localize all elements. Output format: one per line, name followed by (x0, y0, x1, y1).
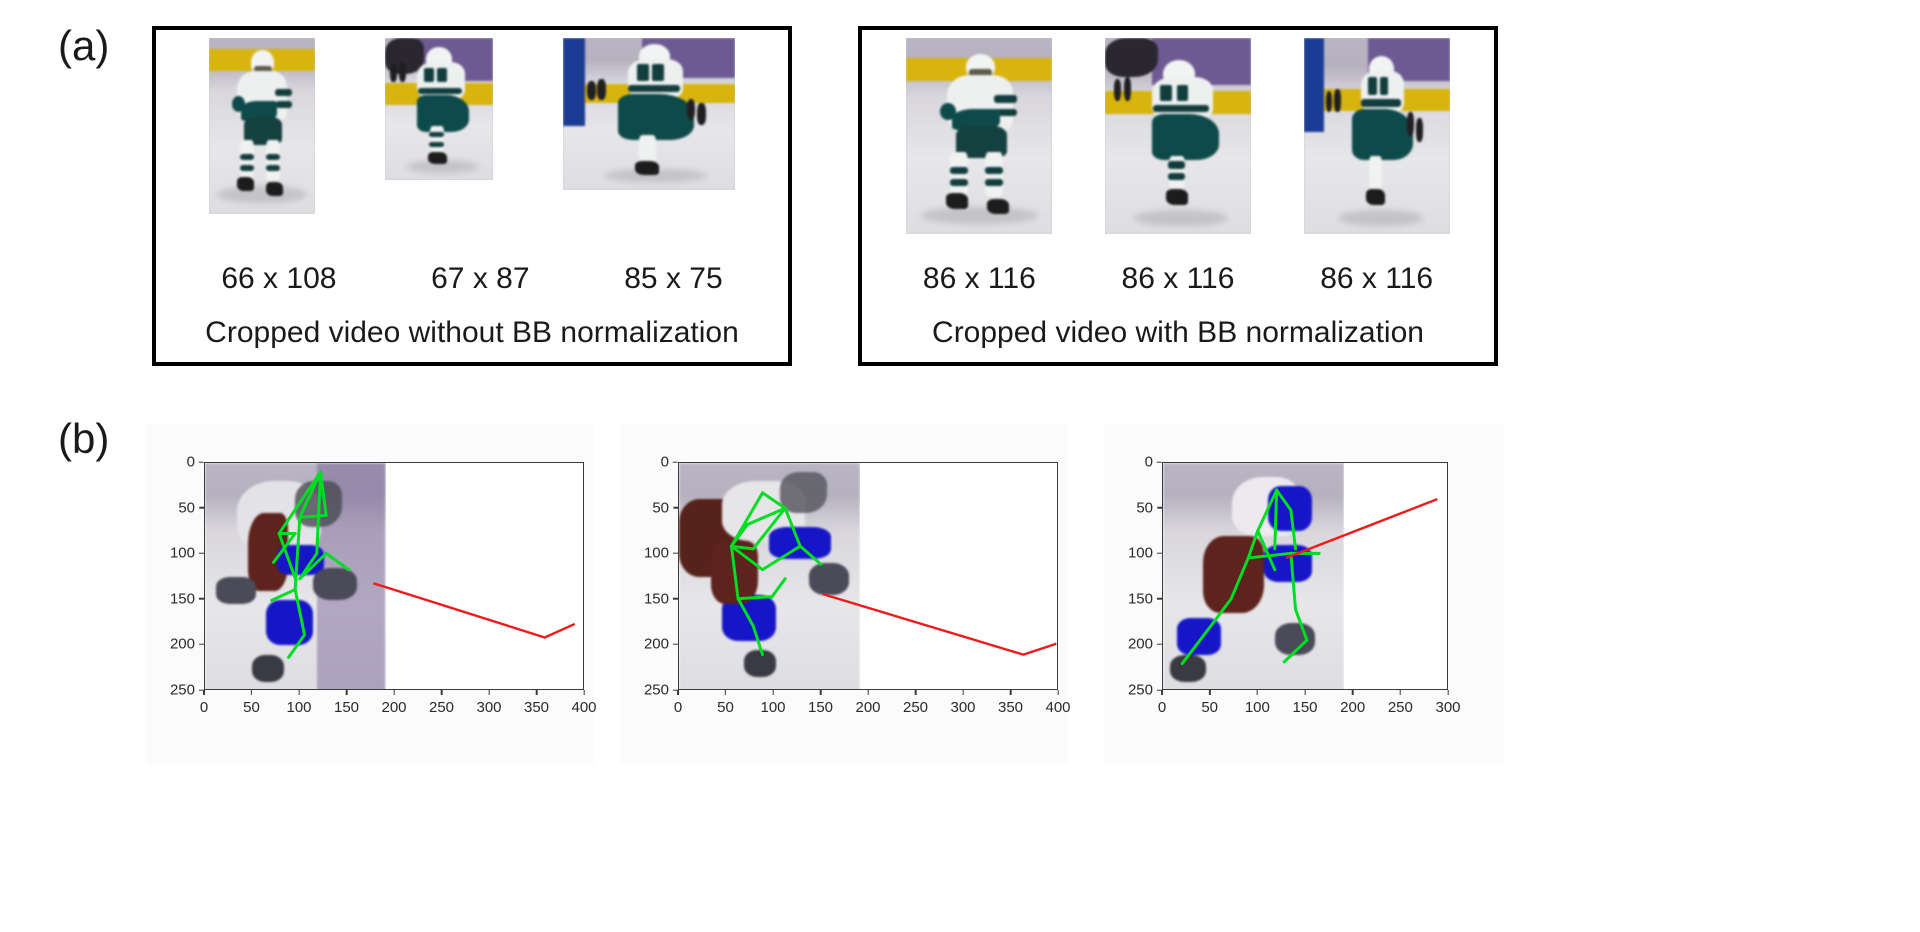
pose-skeleton-segment (763, 493, 786, 508)
y-axis-tick-label: 0 (661, 454, 678, 471)
figure-root: (a) (0, 0, 1920, 932)
trajectory-polyline (373, 583, 575, 637)
y-axis-tick-label: 50 (178, 499, 204, 516)
pose-skeleton-segment (326, 553, 349, 569)
panel-label-a: (a) (58, 22, 109, 70)
pose-skeleton-segment (295, 590, 304, 635)
crop-cell (906, 38, 1052, 234)
crop-group-caption: Cropped video with BB normalization (862, 316, 1494, 350)
crop-group-caption: Cropped video without BB normalization (156, 316, 788, 350)
x-axis-tick-label: 400 (1045, 690, 1070, 716)
pose-plot-frame-2: 050100150200250050100150200250300350400 (620, 424, 1068, 764)
crop-size-label: 86 x 116 (1122, 262, 1235, 296)
pose-skeleton-segment (272, 590, 296, 601)
player-crop-thumbnail (209, 38, 315, 214)
x-axis-tick-label: 50 (1201, 690, 1218, 716)
crop-thumbnail-row (862, 30, 1494, 262)
x-axis-tick-label: 0 (674, 690, 682, 716)
y-axis-tick-label: 200 (644, 636, 678, 653)
plot-axes (204, 462, 584, 690)
pose-plot-frame-3: 050100150200250050100150200250300 (1104, 424, 1504, 764)
crop-cell (1105, 38, 1251, 234)
x-axis-tick-label: 200 (381, 690, 406, 716)
x-axis-tick-label: 150 (808, 690, 833, 716)
x-axis-tick-label: 100 (286, 690, 311, 716)
y-axis-tick-label: 200 (1128, 636, 1162, 653)
x-axis-tick-label: 300 (476, 690, 501, 716)
x-axis-tick-label: 250 (1388, 690, 1413, 716)
pose-skeleton-segment (753, 626, 762, 655)
x-axis-tick-label: 150 (1292, 690, 1317, 716)
pose-skeleton-segment (1296, 609, 1307, 640)
player-crop-thumbnail (563, 38, 735, 190)
pose-skeleton-segment (300, 515, 326, 517)
x-axis-tick-label: 300 (1435, 690, 1460, 716)
pose-skeleton-segment (1212, 599, 1231, 624)
player-crop-thumbnail (1304, 38, 1450, 234)
pose-skeleton-segment (738, 597, 772, 599)
pose-skeleton-segment (731, 546, 762, 570)
crop-size-label: 67 x 87 (431, 262, 529, 296)
pose-skeleton-segment (317, 472, 321, 553)
x-axis-tick-label: 0 (200, 690, 208, 716)
crop-cell (1304, 38, 1450, 234)
x-axis-tick-label: 400 (571, 690, 596, 716)
crop-size-label: 86 x 116 (1320, 262, 1433, 296)
x-axis-tick-label: 250 (903, 690, 928, 716)
pose-skeleton-segment (800, 546, 821, 564)
x-axis-tick-label: 50 (243, 690, 260, 716)
trajectory-polyline (823, 594, 1057, 655)
y-axis-tick-label: 150 (1128, 590, 1162, 607)
pose-skeleton-segment (1248, 531, 1257, 558)
pose-skeleton-segment (731, 524, 747, 546)
pose-skeleton-segment (1258, 531, 1275, 570)
panel-label-b: (b) (58, 415, 109, 463)
y-axis-tick-label: 150 (644, 590, 678, 607)
player-crop-thumbnail (906, 38, 1052, 234)
pose-skeleton-segment (1182, 624, 1212, 664)
pose-skeleton-segment (1284, 640, 1307, 662)
pose-overlay (679, 463, 1057, 689)
x-axis-tick-label: 100 (760, 690, 785, 716)
x-axis-tick-label: 300 (950, 690, 975, 716)
y-axis-tick-label: 50 (1136, 499, 1162, 516)
x-axis-tick-label: 200 (1340, 690, 1365, 716)
crop-size-label-row: 66 x 108 67 x 87 85 x 75 (156, 262, 788, 314)
crop-cell (209, 38, 315, 214)
player-crop-thumbnail (385, 38, 493, 180)
pose-skeleton-segment (289, 635, 305, 658)
crop-size-label: 66 x 108 (221, 262, 336, 296)
x-axis-tick-label: 350 (524, 690, 549, 716)
plot-axes (678, 462, 1058, 690)
pose-skeleton-segment (1275, 490, 1277, 549)
pose-skeleton-segment (738, 599, 753, 626)
trajectory-polyline (1286, 499, 1437, 558)
pose-skeleton-segment (279, 534, 296, 581)
x-axis-tick-label: 350 (998, 690, 1023, 716)
pose-overlay (1163, 463, 1447, 689)
plot-axes (1162, 462, 1448, 690)
pose-plot-frame-1: 050100150200250050100150200250300350400 (146, 424, 594, 764)
player-crop-thumbnail (1105, 38, 1251, 234)
pose-skeleton-segment (1258, 490, 1277, 531)
pose-skeleton-segment (1291, 510, 1296, 549)
pose-skeleton-segment (1291, 553, 1296, 609)
pose-skeleton-segment (763, 546, 801, 570)
pose-skeleton-segment (1231, 558, 1248, 599)
y-axis-tick-label: 0 (187, 454, 204, 471)
crop-size-label-row: 86 x 116 86 x 116 86 x 116 (862, 262, 1494, 314)
crop-size-label: 85 x 75 (624, 262, 722, 296)
crop-size-label: 86 x 116 (923, 262, 1036, 296)
x-axis-tick-label: 50 (717, 690, 734, 716)
y-axis-tick-label: 200 (170, 636, 204, 653)
y-axis-tick-label: 100 (1128, 545, 1162, 562)
x-axis-tick-label: 150 (334, 690, 359, 716)
pose-skeleton-segment (785, 508, 800, 546)
y-axis-tick-label: 100 (170, 545, 204, 562)
y-axis-tick-label: 100 (644, 545, 678, 562)
y-axis-tick-label: 0 (1145, 454, 1162, 471)
pose-skeleton-segment (731, 546, 738, 598)
crop-cell (563, 38, 735, 190)
y-axis-tick-label: 150 (170, 590, 204, 607)
x-axis-tick-label: 100 (1245, 690, 1270, 716)
x-axis-tick-label: 0 (1158, 690, 1166, 716)
crop-thumbnail-row (156, 30, 788, 262)
crop-group-without-normalization: 66 x 108 67 x 87 85 x 75 Cropped video w… (152, 26, 792, 366)
x-axis-tick-label: 200 (855, 690, 880, 716)
pose-overlay (205, 463, 583, 689)
pose-skeleton-segment (772, 579, 785, 597)
x-axis-tick-label: 250 (429, 690, 454, 716)
pose-skeleton-segment (1277, 490, 1291, 510)
crop-group-with-normalization: 86 x 116 86 x 116 86 x 116 Cropped video… (858, 26, 1498, 366)
crop-cell (385, 38, 493, 180)
y-axis-tick-label: 50 (652, 499, 678, 516)
